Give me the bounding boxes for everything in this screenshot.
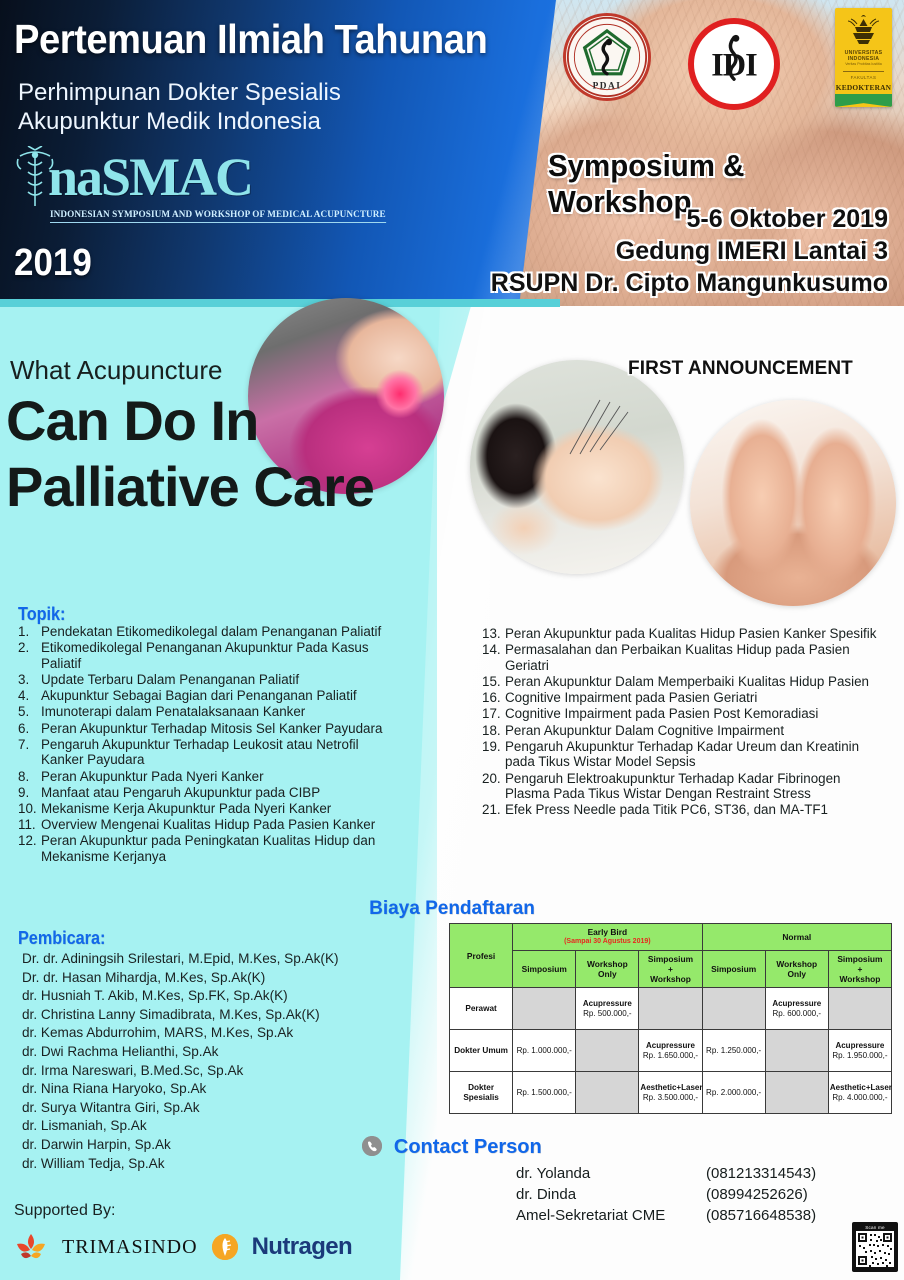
topic-text: Peran Akupunktur pada Peningkatan Kualit… [41, 833, 396, 864]
topics-list-left: 1.Pendekatan Etikomedikolegal dalam Pena… [18, 624, 396, 865]
topics-list-right: 13.Peran Akupunktur pada Kualitas Hidup … [482, 626, 882, 818]
ui-faculty-name: KEDOKTERAN [835, 83, 892, 92]
headline-line-2: Palliative Care [6, 454, 374, 520]
sponsor-trimasindo-label: TRIMASINDO [62, 1236, 198, 1259]
topic-item: 16.Cognitive Impairment pada Pasien Geri… [482, 690, 882, 706]
contact-heading: Contact Person [0, 1136, 904, 1159]
topic-number: 2. [18, 640, 41, 671]
ui-faculty-logo: UNIVERSITAS INDONESIA Veritas Probitas I… [835, 8, 892, 107]
topic-text: Overview Mengenai Kualitas Hidup Pada Pa… [41, 817, 396, 833]
topic-text: Akupunktur Sebagai Bagian dari Penangana… [41, 688, 396, 704]
topic-item: 2.Etikomedikolegal Penanganan Akupunktur… [18, 640, 396, 671]
topic-number: 9. [18, 785, 41, 801]
topic-number: 19. [482, 739, 505, 770]
speaker-item: dr. Kemas Abdurrohim, MARS, M.Kes, Sp.Ak [22, 1024, 422, 1043]
year-label: 2019 [14, 242, 92, 285]
topic-text: Pendekatan Etikomedikolegal dalam Penang… [41, 624, 396, 640]
topic-text: Imunoterapi dalam Penatalaksanaan Kanker [41, 704, 396, 720]
fees-heading: Biaya Pendaftaran [0, 898, 904, 920]
contact-name: Amel-Sekretariat CME [516, 1205, 706, 1226]
fee-cell [765, 1072, 828, 1114]
topic-number: 6. [18, 721, 41, 737]
nasmac-logo: naSMAC INDONESIAN SYMPOSIUM AND WORKSHOP… [10, 150, 393, 223]
group-early-note: (Sampai 30 Agustus 2019) [514, 937, 700, 947]
topic-item: 8.Peran Akupunktur Pada Nyeri Kanker [18, 769, 396, 785]
fee-cell: AcupressureRp. 500.000,- [576, 988, 639, 1030]
topic-number: 11. [18, 817, 41, 833]
topic-number: 1. [18, 624, 41, 640]
event-date: 5-6 Oktober 2019 [491, 203, 888, 235]
nasmac-wordmark: naSMAC [48, 150, 393, 204]
fee-cell [702, 988, 765, 1030]
ui-divider [843, 71, 884, 72]
fee-subheader-normal-2: Simposium+Workshop [828, 951, 891, 988]
fee-cell [576, 1030, 639, 1072]
event-venue-line1: Gedung IMERI Lantai 3 [491, 235, 888, 267]
topic-text: Pengaruh Akupunktur Terhadap Kadar Ureum… [505, 739, 882, 770]
sponsor-logos: TRIMASINDO Nutragen [14, 1232, 352, 1262]
makara-icon [835, 14, 892, 48]
topic-text: Cognitive Impairment pada Pasien Post Ke… [505, 706, 882, 722]
fee-cell [828, 988, 891, 1030]
contact-heading-label: Contact Person [394, 1136, 542, 1158]
poster: Pertemuan Ilmiah Tahunan Perhimpunan Dok… [0, 0, 904, 1280]
topic-number: 7. [18, 737, 41, 768]
ui-fakultas-label: FAKULTAS [835, 75, 892, 80]
ui-university-name: UNIVERSITAS INDONESIA [835, 50, 892, 62]
topic-number: 15. [482, 674, 505, 690]
speaker-item: dr. Irma Nareswari, B.Med.Sc, Sp.Ak [22, 1062, 422, 1081]
headline-kicker: What Acupuncture [10, 355, 222, 386]
qr-scan-label: Scan me [854, 1225, 896, 1230]
fee-table-body: PerawatAcupressureRp. 500.000,-Acupressu… [450, 988, 892, 1114]
topic-text: Permasalahan dan Perbaikan Kualitas Hidu… [505, 642, 882, 673]
fee-cell: AcupressureRp. 1.950.000,- [828, 1030, 891, 1072]
speaker-item: Dr. dr. Adiningsih Srilestari, M.Epid, M… [22, 950, 422, 969]
group-early-label: Early Bird [514, 927, 700, 937]
fee-profesi-cell: Dokter Spesialis [450, 1072, 513, 1114]
speaker-item: dr. Lismaniah, Sp.Ak [22, 1117, 422, 1136]
qr-matrix [856, 1231, 894, 1267]
needle-icon [566, 398, 646, 458]
nutragen-mark-icon [212, 1234, 238, 1260]
contact-name: dr. Dinda [516, 1184, 706, 1205]
fee-cell: Rp. 1.500.000,- [513, 1072, 576, 1114]
topic-number: 13. [482, 626, 505, 642]
topic-number: 3. [18, 672, 41, 688]
table-row: PerawatAcupressureRp. 500.000,-Acupressu… [450, 988, 892, 1030]
topic-number: 17. [482, 706, 505, 722]
topic-text: Peran Akupunktur Dalam Cognitive Impairm… [505, 723, 882, 739]
event-venue-line2: RSUPN Dr. Cipto Mangunkusumo [491, 267, 888, 299]
photo-facial-acupuncture [470, 360, 684, 574]
fee-subheader-early-0: Simposium [513, 951, 576, 988]
topic-item: 12.Peran Akupunktur pada Peningkatan Kua… [18, 833, 396, 864]
topic-text: Peran Akupunktur Pada Nyeri Kanker [41, 769, 396, 785]
topic-text: Peran Akupunktur Terhadap Mitosis Sel Ka… [41, 721, 396, 737]
fee-cell [576, 1072, 639, 1114]
topic-item: 21.Efek Press Needle pada Titik PC6, ST3… [482, 802, 882, 818]
topic-item: 19.Pengaruh Akupunktur Terhadap Kadar Ur… [482, 739, 882, 770]
idi-emblem-icon: IDI [696, 26, 772, 102]
table-row: Dokter UmumRp. 1.000.000,-AcupressureRp.… [450, 1030, 892, 1072]
fee-subheader-early-1: WorkshopOnly [576, 951, 639, 988]
topic-item: 20.Pengaruh Elektroakupunktur Terhadap K… [482, 771, 882, 802]
topic-text: Pengaruh Akupunktur Terhadap Leukosit at… [41, 737, 396, 768]
fee-cell: AcupressureRp. 600.000,- [765, 988, 828, 1030]
table-row: Dokter SpesialisRp. 1.500.000,-Aesthetic… [450, 1072, 892, 1114]
speaker-item: dr. Nina Riana Haryoko, Sp.Ak [22, 1080, 422, 1099]
trimasindo-mark-icon [14, 1232, 48, 1262]
speaker-item: dr. Christina Lanny Simadibrata, M.Kes, … [22, 1006, 422, 1025]
topic-number: 20. [482, 771, 505, 802]
fee-cell: Aesthetic+LaserRp. 3.500.000,- [639, 1072, 702, 1114]
topic-item: 17.Cognitive Impairment pada Pasien Post… [482, 706, 882, 722]
topic-number: 10. [18, 801, 41, 817]
speaker-item: Dr. dr. Hasan Mihardja, M.Kes, Sp.Ak(K) [22, 969, 422, 988]
group-normal: Normal [702, 924, 891, 951]
registration-fee-table: Profesi Early Bird (Sampai 30 Agustus 20… [449, 923, 892, 1114]
event-details: 5-6 Oktober 2019 Gedung IMERI Lantai 3 R… [491, 203, 888, 299]
topic-item: 11.Overview Mengenai Kualitas Hidup Pada… [18, 817, 396, 833]
topic-number: 21. [482, 802, 505, 818]
speaker-item: dr. Surya Witantra Giri, Sp.Ak [22, 1099, 422, 1118]
fee-subheader-normal-1: WorkshopOnly [765, 951, 828, 988]
fee-cell: Rp. 1.000.000,- [513, 1030, 576, 1072]
contact-row: dr. Dinda(08994252626) [516, 1184, 816, 1205]
topic-item: 5.Imunoterapi dalam Penatalaksanaan Kank… [18, 704, 396, 720]
topic-text: Efek Press Needle pada Titik PC6, ST36, … [505, 802, 882, 818]
svg-text:PDAI: PDAI [593, 82, 622, 92]
topic-text: Manfaat atau Pengaruh Akupunktur pada CI… [41, 785, 396, 801]
topic-text: Update Terbaru Dalam Penanganan Paliatif [41, 672, 396, 688]
topic-number: 14. [482, 642, 505, 673]
idi-logo: IDI [688, 18, 780, 110]
topic-number: 18. [482, 723, 505, 739]
contact-row: dr. Yolanda(081213314543) [516, 1163, 816, 1184]
contact-phone[interactable]: (085716648538) [706, 1205, 816, 1226]
topic-number: 4. [18, 688, 41, 704]
contact-phone[interactable]: (081213314543) [706, 1163, 816, 1184]
fee-table-head: Profesi Early Bird (Sampai 30 Agustus 20… [450, 924, 892, 988]
col-profesi: Profesi [450, 924, 513, 988]
topic-number: 12. [18, 833, 41, 864]
fee-cell: Rp. 2.000.000,- [702, 1072, 765, 1114]
topics-heading: Topik: [18, 604, 65, 625]
phone-icon [362, 1136, 382, 1156]
topic-item: 6.Peran Akupunktur Terhadap Mitosis Sel … [18, 721, 396, 737]
contact-list: dr. Yolanda(081213314543)dr. Dinda(08994… [516, 1163, 816, 1226]
topic-text: Etikomedikolegal Penanganan Akupunktur P… [41, 640, 396, 671]
topic-item: 7.Pengaruh Akupunktur Terhadap Leukosit … [18, 737, 396, 768]
topic-text: Peran Akupunktur pada Kualitas Hidup Pas… [505, 626, 882, 642]
main-headline: Can Do In Palliative Care [6, 388, 374, 520]
fee-subheader-early-2: Simposium+Workshop [639, 951, 702, 988]
headline-line-1: Can Do In [6, 388, 374, 454]
contact-name: dr. Yolanda [516, 1163, 706, 1184]
topic-item: 13.Peran Akupunktur pada Kualitas Hidup … [482, 626, 882, 642]
fee-cell: Rp. 1.250.000,- [702, 1030, 765, 1072]
topic-item: 4.Akupunktur Sebagai Bagian dari Penanga… [18, 688, 396, 704]
topic-text: Mekanisme Kerja Akupunktur Pada Nyeri Ka… [41, 801, 396, 817]
topic-text: Pengaruh Elektroakupunktur Terhadap Kada… [505, 771, 882, 802]
topic-number: 8. [18, 769, 41, 785]
contact-phone[interactable]: (08994252626) [706, 1184, 808, 1205]
photo-acupressure-hand [690, 400, 896, 606]
fee-cell: AcupressureRp. 1.650.000,- [639, 1030, 702, 1072]
fee-cell: Aesthetic+LaserRp. 4.000.000,- [828, 1072, 891, 1114]
ui-slogan: Veritas Probitas Iustitia [835, 62, 892, 66]
nasmac-tagline: INDONESIAN SYMPOSIUM AND WORKSHOP OF MED… [50, 210, 386, 223]
pdai-emblem-icon: PDAI [566, 16, 648, 98]
caduceus-icon [12, 146, 58, 208]
fee-profesi-cell: Perawat [450, 988, 513, 1030]
topic-text: Cognitive Impairment pada Pasien Geriatr… [505, 690, 882, 706]
topic-text: Peran Akupunktur Dalam Memperbaiki Kuali… [505, 674, 882, 690]
topic-item: 3.Update Terbaru Dalam Penanganan Paliat… [18, 672, 396, 688]
speakers-heading: Pembicara: [18, 928, 105, 949]
topic-item: 18.Peran Akupunktur Dalam Cognitive Impa… [482, 723, 882, 739]
topic-number: 5. [18, 704, 41, 720]
topic-number: 16. [482, 690, 505, 706]
pdai-logo: PDAI [563, 13, 651, 101]
topic-item: 14.Permasalahan dan Perbaikan Kualitas H… [482, 642, 882, 673]
subtitle-line-2: Akupunktur Medik Indonesia [18, 107, 341, 136]
teal-divider [0, 299, 560, 307]
first-announcement-badge: FIRST ANNOUNCEMENT [628, 358, 853, 380]
fee-cell [639, 988, 702, 1030]
topic-item: 10.Mekanisme Kerja Akupunktur Pada Nyeri… [18, 801, 396, 817]
supported-by-label: Supported By: [14, 1202, 115, 1220]
ui-green-band [835, 94, 892, 107]
subtitle-line-1: Perhimpunan Dokter Spesialis [18, 78, 341, 107]
topic-item: 15.Peran Akupunktur Dalam Memperbaiki Ku… [482, 674, 882, 690]
sponsor-nutragen-label: Nutragen [252, 1233, 353, 1261]
speaker-item: dr. Husniah T. Akib, M.Kes, Sp.FK, Sp.Ak… [22, 987, 422, 1006]
group-early-bird: Early Bird (Sampai 30 Agustus 2019) [513, 924, 702, 951]
fee-cell [765, 1030, 828, 1072]
topic-item: 1.Pendekatan Etikomedikolegal dalam Pena… [18, 624, 396, 640]
qr-code[interactable]: Scan me [852, 1222, 898, 1272]
fee-table-subheader-row: SimposiumWorkshopOnlySimposium+WorkshopS… [450, 951, 892, 988]
page-title: Pertemuan Ilmiah Tahunan [14, 16, 487, 63]
fee-profesi-cell: Dokter Umum [450, 1030, 513, 1072]
speaker-item: dr. Dwi Rachma Helianthi, Sp.Ak [22, 1043, 422, 1062]
contact-row: Amel-Sekretariat CME(085716648538) [516, 1205, 816, 1226]
organization-subtitle: Perhimpunan Dokter Spesialis Akupunktur … [18, 78, 341, 136]
topic-item: 9.Manfaat atau Pengaruh Akupunktur pada … [18, 785, 396, 801]
fee-cell [513, 988, 576, 1030]
fee-table-group-row: Profesi Early Bird (Sampai 30 Agustus 20… [450, 924, 892, 951]
fee-subheader-normal-0: Simposium [702, 951, 765, 988]
